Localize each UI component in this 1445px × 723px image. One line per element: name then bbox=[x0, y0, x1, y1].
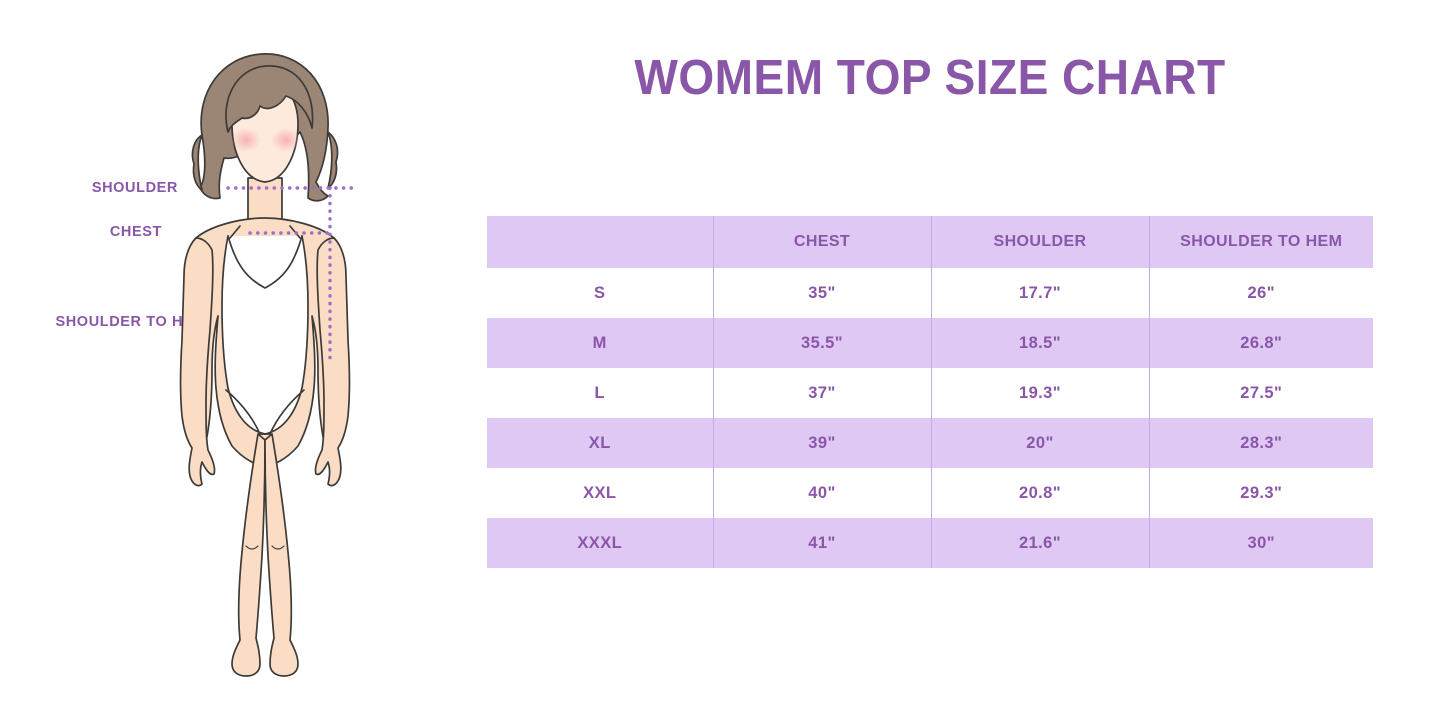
table-row: XXXL41"21.6"30" bbox=[487, 518, 1373, 568]
shoulder-cell: 18.5" bbox=[931, 318, 1149, 368]
shoulder-cell: 19.3" bbox=[931, 368, 1149, 418]
leg-right bbox=[265, 434, 298, 676]
chest-cell: 39" bbox=[713, 418, 931, 468]
size-cell: M bbox=[487, 318, 713, 368]
size-cell: XL bbox=[487, 418, 713, 468]
blush-left bbox=[231, 128, 261, 152]
hair-side-left bbox=[192, 135, 202, 190]
page-title: WOMEM TOP SIZE CHART bbox=[498, 50, 1363, 106]
shoulder-to-hem-cell: 28.3" bbox=[1149, 418, 1373, 468]
neck bbox=[248, 178, 282, 224]
size-cell: L bbox=[487, 368, 713, 418]
table-row: L37"19.3"27.5" bbox=[487, 368, 1373, 418]
leg-left bbox=[232, 434, 265, 676]
table-header: CHEST SHOULDER SHOULDER TO HEM bbox=[487, 216, 1373, 268]
table-row: XL39"20"28.3" bbox=[487, 418, 1373, 468]
size-cell: XXXL bbox=[487, 518, 713, 568]
column-header-shoulder-to-hem: SHOULDER TO HEM bbox=[1149, 216, 1373, 268]
table-row: S35"17.7"26" bbox=[487, 268, 1373, 318]
column-header-chest: CHEST bbox=[713, 216, 931, 268]
size-cell: S bbox=[487, 268, 713, 318]
shoulder-to-hem-cell: 26.8" bbox=[1149, 318, 1373, 368]
chest-cell: 35" bbox=[713, 268, 931, 318]
shoulder-to-hem-cell: 29.3" bbox=[1149, 468, 1373, 518]
shoulder-to-hem-cell: 27.5" bbox=[1149, 368, 1373, 418]
size-cell: XXL bbox=[487, 468, 713, 518]
shoulder-cell: 21.6" bbox=[931, 518, 1149, 568]
chest-cell: 37" bbox=[713, 368, 931, 418]
female-body-figure-icon bbox=[140, 40, 400, 690]
size-chart-table-container: CHEST SHOULDER SHOULDER TO HEM S35"17.7"… bbox=[487, 216, 1373, 568]
hair-side-right bbox=[328, 132, 338, 188]
shoulder-to-hem-cell: 26" bbox=[1149, 268, 1373, 318]
shoulder-cell: 20" bbox=[931, 418, 1149, 468]
table-row: XXL40"20.8"29.3" bbox=[487, 468, 1373, 518]
figure-panel: SHOULDER CHEST SHOULDER TO HEM bbox=[0, 0, 470, 723]
header-row: CHEST SHOULDER SHOULDER TO HEM bbox=[487, 216, 1373, 268]
shoulder-cell: 20.8" bbox=[931, 468, 1149, 518]
size-chart-table: CHEST SHOULDER SHOULDER TO HEM S35"17.7"… bbox=[487, 216, 1373, 568]
shoulder-to-hem-cell: 30" bbox=[1149, 518, 1373, 568]
chest-cell: 35.5" bbox=[713, 318, 931, 368]
table-body: S35"17.7"26"M35.5"18.5"26.8"L37"19.3"27.… bbox=[487, 268, 1373, 568]
chest-cell: 41" bbox=[713, 518, 931, 568]
measure-label-chest: CHEST bbox=[0, 224, 162, 240]
column-header-size bbox=[487, 216, 713, 268]
shoulder-cell: 17.7" bbox=[931, 268, 1149, 318]
blush-right bbox=[271, 128, 301, 152]
chest-cell: 40" bbox=[713, 468, 931, 518]
table-row: M35.5"18.5"26.8" bbox=[487, 318, 1373, 368]
column-header-shoulder: SHOULDER bbox=[931, 216, 1149, 268]
